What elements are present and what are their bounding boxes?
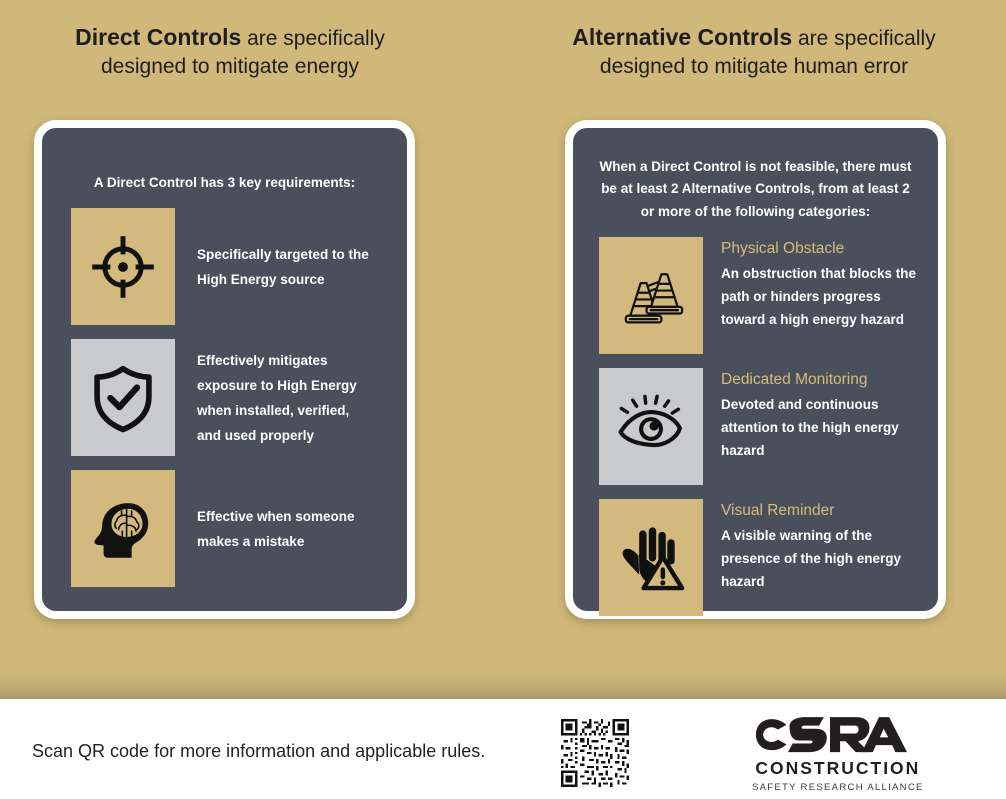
logo-construction-text: CONSTRUCTION xyxy=(752,758,924,779)
alternative-control-text: Visual Reminder A visible warning of the… xyxy=(703,499,917,594)
left-column-heading: Direct Controls are specifically designe… xyxy=(0,22,460,80)
direct-control-text: Effective when someone makes a mistake xyxy=(175,503,375,555)
head-brain-icon xyxy=(71,470,175,587)
alternative-control-text: Physical Obstacle An obstruction that bl… xyxy=(703,237,917,332)
alternative-controls-card: When a Direct Control is not feasible, t… xyxy=(565,120,946,619)
category-description: An obstruction that blocks the path or h… xyxy=(721,262,917,332)
direct-controls-card: A Direct Control has 3 key requirements: xyxy=(34,120,415,619)
qr-code[interactable] xyxy=(561,719,629,787)
direct-control-row: Effectively mitigates exposure to High E… xyxy=(42,339,407,456)
logo-tagline-text: SAFETY RESEARCH ALLIANCE xyxy=(752,782,924,793)
alternative-control-row: Physical Obstacle An obstruction that bl… xyxy=(573,237,938,354)
direct-control-row: Effective when someone makes a mistake xyxy=(42,470,407,587)
right-heading-line2: designed to mitigate human error xyxy=(600,55,908,78)
direct-control-row: Specifically targeted to the High Energy… xyxy=(42,208,407,325)
shield-check-icon xyxy=(71,339,175,456)
left-heading-line2: designed to mitigate energy xyxy=(101,55,359,78)
eye-icon xyxy=(599,368,703,485)
footer-instruction-text: Scan QR code for more information and ap… xyxy=(32,741,485,762)
category-description: Devoted and continuous attention to the … xyxy=(721,393,917,463)
alternative-control-row: Dedicated Monitoring Devoted and continu… xyxy=(573,368,938,485)
crosshair-target-icon xyxy=(71,208,175,325)
infographic-body: Direct Controls are specifically designe… xyxy=(0,0,1006,699)
alternative-controls-intro: When a Direct Control is not feasible, t… xyxy=(573,156,938,223)
alternative-control-text: Dedicated Monitoring Devoted and continu… xyxy=(703,368,917,463)
csra-logo: CONSTRUCTION SAFETY RESEARCH ALLIANCE xyxy=(752,714,924,793)
traffic-cones-barricade-icon xyxy=(599,237,703,354)
bottom-gradient-strip xyxy=(0,671,1006,699)
category-title: Visual Reminder xyxy=(721,499,917,522)
hand-warning-icon xyxy=(599,499,703,616)
right-heading-strong: Alternative Controls xyxy=(572,24,792,50)
alternative-control-row: Visual Reminder A visible warning of the… xyxy=(573,499,938,616)
right-column-heading: Alternative Controls are specifically de… xyxy=(524,22,984,80)
category-description: A visible warning of the presence of the… xyxy=(721,524,917,594)
direct-control-text: Specifically targeted to the High Energy… xyxy=(175,241,375,293)
direct-controls-intro: A Direct Control has 3 key requirements: xyxy=(42,172,407,194)
csra-wordmark-icon xyxy=(752,714,908,756)
left-heading-rest: are specifically xyxy=(241,27,385,50)
alternative-controls-row-list: Physical Obstacle An obstruction that bl… xyxy=(573,237,938,616)
right-heading-rest: are specifically xyxy=(792,27,936,50)
left-heading-strong: Direct Controls xyxy=(75,24,241,50)
category-title: Dedicated Monitoring xyxy=(721,368,917,391)
direct-control-text: Effectively mitigates exposure to High E… xyxy=(175,347,375,449)
direct-controls-row-list: Specifically targeted to the High Energy… xyxy=(42,208,407,587)
category-title: Physical Obstacle xyxy=(721,237,917,260)
